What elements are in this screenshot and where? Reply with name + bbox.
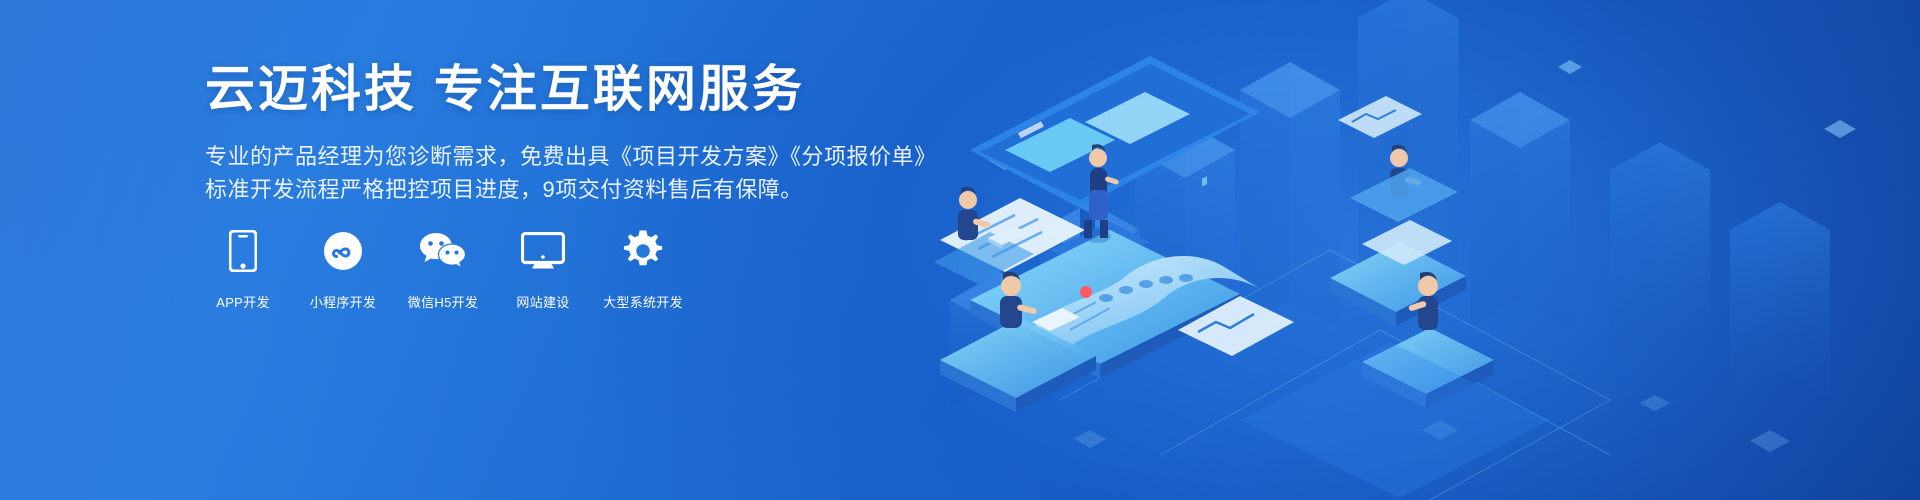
service-item-large-system[interactable]: 大型系统开发 <box>605 228 681 311</box>
right-platform-stack <box>1330 220 1466 326</box>
monitor-icon <box>521 228 565 274</box>
main-platform <box>970 230 1240 378</box>
subtitle-line-2: 标准开发流程严格把控项目进度，9项交付资料售后有保障。 <box>205 173 965 206</box>
chart-card <box>1178 176 1294 356</box>
hero-subtitle: 专业的产品经理为您诊断需求，免费出具《项目开发方案》《分项报价单》 标准开发流程… <box>205 140 965 206</box>
floating-particles <box>988 60 1856 452</box>
hero-banner: 云迈科技 专注互联网服务 专业的产品经理为您诊断需求，免费出具《项目开发方案》《… <box>0 0 1920 500</box>
person-standing-center <box>1084 144 1119 243</box>
gear-icon <box>622 228 664 274</box>
background-buildings <box>950 0 1830 408</box>
subtitle-line-1: 专业的产品经理为您诊断需求，免费出具《项目开发方案》《分项报价单》 <box>205 140 965 173</box>
service-label: 微信H5开发 <box>408 292 478 311</box>
service-label: 大型系统开发 <box>603 292 683 311</box>
service-list: APP开发 小程序开发 微信 <box>205 228 681 311</box>
service-label: 网站建设 <box>516 292 569 311</box>
person-desk-front <box>940 272 1096 412</box>
service-item-wechat-h5[interactable]: 微信H5开发 <box>405 228 481 311</box>
mini-program-icon <box>323 228 363 274</box>
mobile-phone-icon <box>229 228 257 274</box>
service-label: 小程序开发 <box>310 292 377 311</box>
wechat-icon <box>419 228 467 274</box>
isometric-illustration <box>910 0 1920 500</box>
page-title: 云迈科技 专注互联网服务 <box>205 62 965 117</box>
person-right-lower <box>1362 272 1494 408</box>
service-label: APP开发 <box>216 292 270 311</box>
highlight-dot <box>1080 286 1092 298</box>
dashboard-screen <box>970 56 1260 270</box>
service-item-miniprogram[interactable]: 小程序开发 <box>305 228 381 311</box>
ground-grid <box>1060 250 1610 500</box>
floating-ui-card <box>1338 96 1422 138</box>
ground-platform-right <box>1240 342 1550 498</box>
wavy-report-scroll <box>1030 256 1262 348</box>
person-right-upper <box>1350 145 1458 222</box>
hero-content: 云迈科技 专注互联网服务 专业的产品经理为您诊断需求，免费出具《项目开发方案》《… <box>205 62 965 206</box>
document-sheets <box>940 198 1085 272</box>
service-item-app[interactable]: APP开发 <box>205 228 281 311</box>
service-item-website[interactable]: 网站建设 <box>505 228 581 311</box>
